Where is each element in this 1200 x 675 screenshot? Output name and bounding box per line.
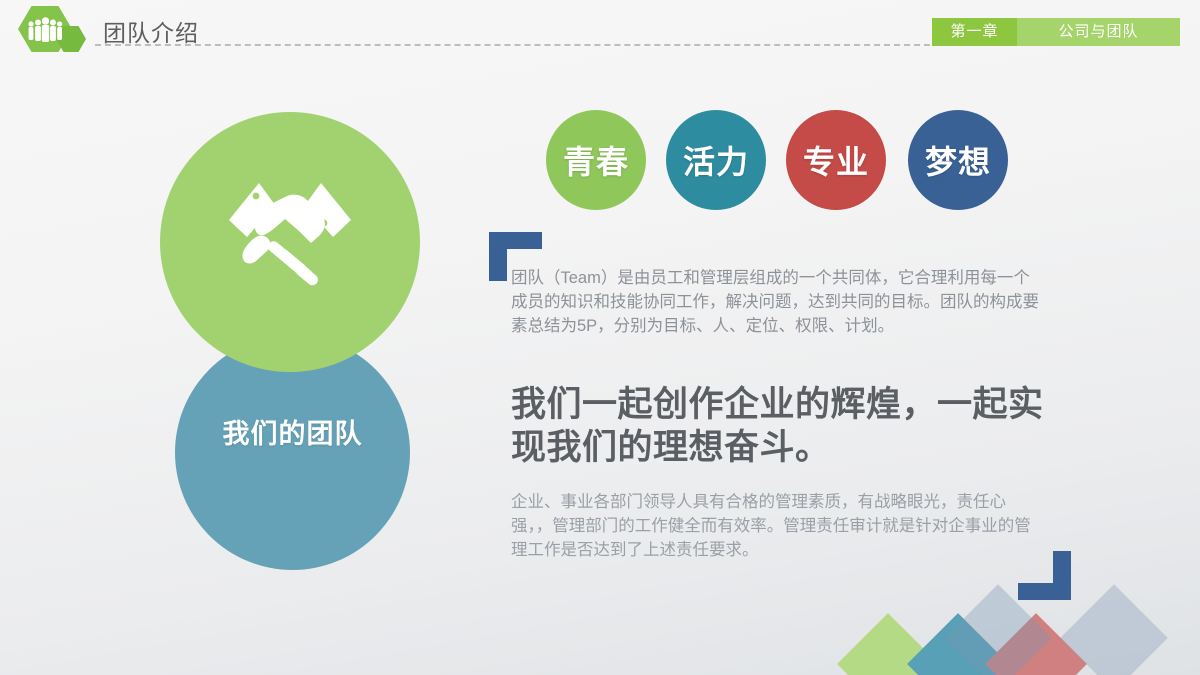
keyword-circle-3[interactable]: 专业 <box>786 110 886 210</box>
keyword-circle-4[interactable]: 梦想 <box>908 110 1008 210</box>
slide-header: 团队介绍 第一章 公司与团队 <box>0 0 1200 52</box>
keyword-circle-1[interactable]: 青春 <box>546 110 646 210</box>
team-circle-label: 我们的团队 <box>175 412 410 451</box>
slide: 团队介绍 第一章 公司与团队 我们的团队 青春 活力 专业 梦想 团队（Team… <box>0 0 1200 675</box>
team-hexagon-logo-icon <box>18 6 88 50</box>
keyword-circle-2[interactable]: 活力 <box>666 110 766 210</box>
intro-paragraph: 团队（Team）是由员工和管理层组成的一个共同体，它合理利用每一个成员的知识和技… <box>511 266 1046 338</box>
page-title: 团队介绍 <box>103 14 199 48</box>
handshake-icon <box>215 175 365 305</box>
header-divider <box>95 44 930 46</box>
tab-section[interactable]: 公司与团队 <box>1017 18 1180 46</box>
tab-chapter[interactable]: 第一章 <box>932 18 1017 46</box>
people-group-icon <box>26 17 64 43</box>
bracket-bottom-right-icon <box>1018 551 1071 600</box>
detail-paragraph: 企业、事业各部门领导人具有合格的管理素质，有战略眼光，责任心强，，管理部门的工作… <box>511 490 1046 562</box>
headline-text: 我们一起创作企业的辉煌，一起实现我们的理想奋斗。 <box>511 383 1071 469</box>
